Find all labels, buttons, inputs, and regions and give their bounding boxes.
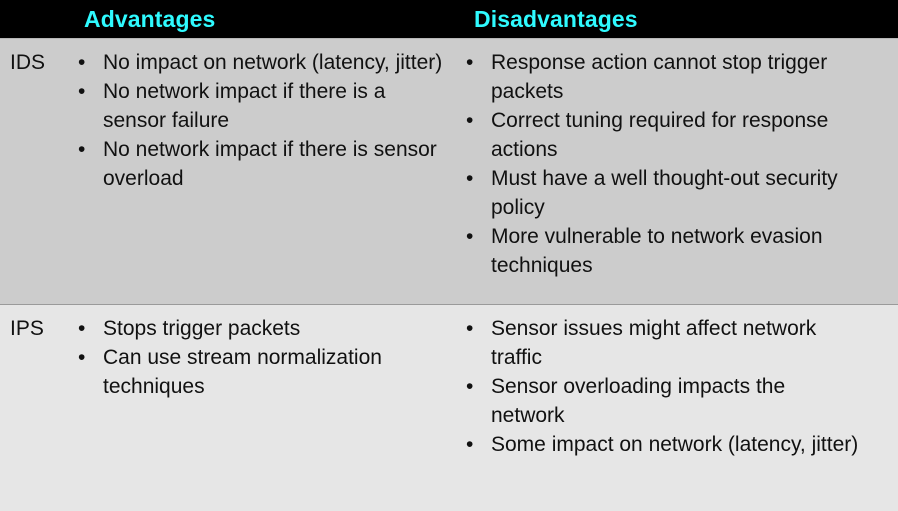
table-row: IDS • No impact on network (latency, jit… bbox=[0, 39, 898, 304]
bullet-icon: • bbox=[466, 106, 473, 135]
list-item: • Some impact on network (latency, jitte… bbox=[462, 430, 863, 459]
list-item-text: Sensor overloading impacts the network bbox=[491, 372, 863, 430]
table-header-row: Advantages Disadvantages bbox=[0, 0, 898, 38]
bullet-icon: • bbox=[466, 48, 473, 77]
list-item-text: More vulnerable to network evasion techn… bbox=[491, 222, 863, 280]
bullet-icon: • bbox=[466, 222, 473, 251]
bullet-icon: • bbox=[466, 314, 473, 343]
table-row: IPS • Stops trigger packets • Can use st… bbox=[0, 305, 898, 511]
list-item: • No network impact if there is sensor o… bbox=[74, 135, 452, 193]
list-item: • Sensor issues might affect network tra… bbox=[462, 314, 863, 372]
bullet-icon: • bbox=[466, 430, 473, 459]
list-item-text: No network impact if there is sensor ove… bbox=[103, 135, 452, 193]
list-item-text: Can use stream normalization techniques bbox=[103, 343, 452, 401]
list-item: • Can use stream normalization technique… bbox=[74, 343, 452, 401]
ids-disadvantages-list: • Response action cannot stop trigger pa… bbox=[462, 48, 898, 304]
list-item: • No network impact if there is a sensor… bbox=[74, 77, 452, 135]
list-item-text: Must have a well thought-out security po… bbox=[491, 164, 863, 222]
list-item-text: No network impact if there is a sensor f… bbox=[103, 77, 452, 135]
list-item-text: Sensor issues might affect network traff… bbox=[491, 314, 863, 372]
row-ips-disadvantages-cell: • Sensor issues might affect network tra… bbox=[452, 305, 898, 511]
list-item: • Sensor overloading impacts the network bbox=[462, 372, 863, 430]
ips-advantages-list: • Stops trigger packets • Can use stream… bbox=[74, 314, 452, 511]
list-item: • Response action cannot stop trigger pa… bbox=[462, 48, 863, 106]
column-header-advantages: Advantages bbox=[84, 8, 215, 31]
list-item: • More vulnerable to network evasion tec… bbox=[462, 222, 863, 280]
bullet-icon: • bbox=[78, 343, 85, 372]
list-item: • No impact on network (latency, jitter) bbox=[74, 48, 452, 77]
bullet-icon: • bbox=[78, 314, 85, 343]
header-cell-advantages: Advantages bbox=[0, 0, 452, 38]
bullet-icon: • bbox=[466, 372, 473, 401]
list-item: • Stops trigger packets bbox=[74, 314, 452, 343]
row-label-ips: IPS bbox=[0, 314, 74, 511]
row-ids-disadvantages-cell: • Response action cannot stop trigger pa… bbox=[452, 39, 898, 304]
bullet-icon: • bbox=[78, 48, 85, 77]
ids-ips-comparison-table: Advantages Disadvantages IDS • No impact… bbox=[0, 0, 898, 509]
row-ips-advantages-cell: IPS • Stops trigger packets • Can use st… bbox=[0, 305, 452, 511]
list-item-text: Stops trigger packets bbox=[103, 314, 452, 343]
list-item-text: Response action cannot stop trigger pack… bbox=[491, 48, 863, 106]
ids-advantages-list: • No impact on network (latency, jitter)… bbox=[74, 48, 452, 304]
column-header-disadvantages: Disadvantages bbox=[474, 8, 638, 31]
bullet-icon: • bbox=[466, 164, 473, 193]
list-item: • Correct tuning required for response a… bbox=[462, 106, 863, 164]
header-cell-disadvantages: Disadvantages bbox=[452, 0, 898, 38]
list-item-text: Correct tuning required for response act… bbox=[491, 106, 863, 164]
list-item: • Must have a well thought-out security … bbox=[462, 164, 863, 222]
list-item-text: No impact on network (latency, jitter) bbox=[103, 48, 452, 77]
row-label-ids: IDS bbox=[0, 48, 74, 304]
bullet-icon: • bbox=[78, 77, 85, 106]
ips-disadvantages-list: • Sensor issues might affect network tra… bbox=[462, 314, 898, 511]
list-item-text: Some impact on network (latency, jitter) bbox=[491, 430, 863, 459]
row-ids-advantages-cell: IDS • No impact on network (latency, jit… bbox=[0, 39, 452, 304]
bullet-icon: • bbox=[78, 135, 85, 164]
